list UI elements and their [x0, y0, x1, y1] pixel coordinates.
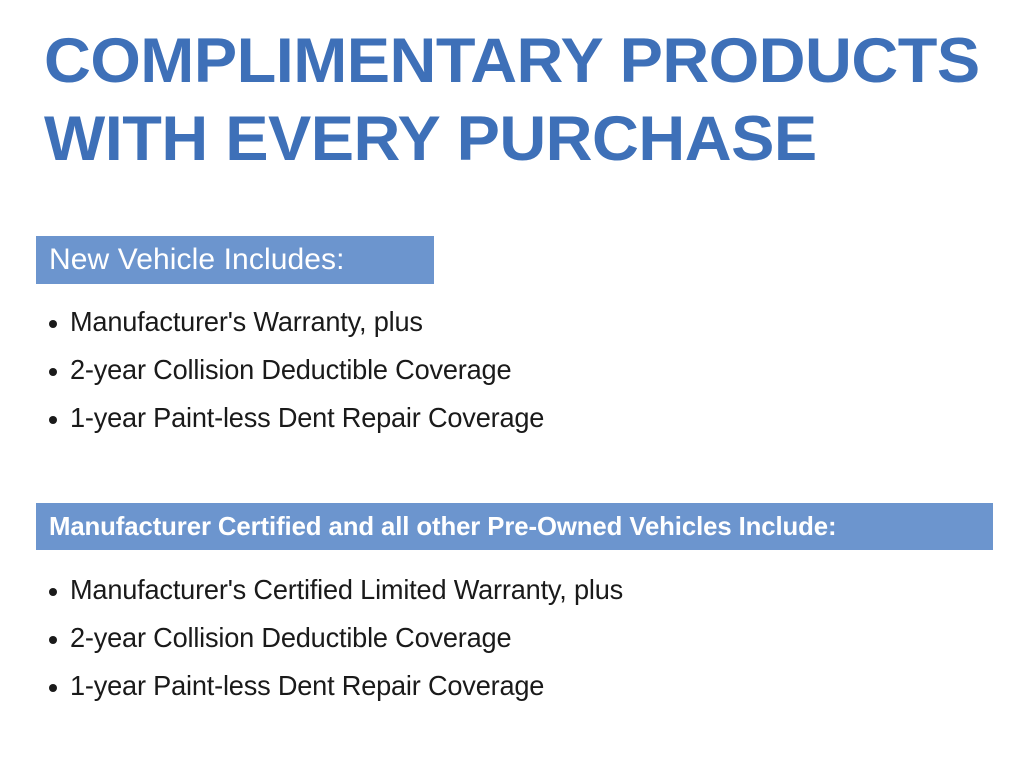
list-item: 2-year Collision Deductible Coverage: [46, 616, 640, 664]
list-item-label: Manufacturer's Warranty, plus: [70, 300, 423, 344]
section-heading-label-new-vehicle: New Vehicle Includes:: [49, 243, 345, 277]
list-item-label: 1-year Paint-less Dent Repair Coverage: [70, 396, 544, 440]
bullet-dot-icon: [49, 368, 57, 376]
page-title-line-1: COMPLIMENTARY PRODUCTS: [44, 22, 1023, 100]
slide-canvas: COMPLIMENTARY PRODUCTS WITH EVERY PURCHA…: [0, 0, 1024, 768]
bullet-list-new-vehicle: Manufacturer's Warranty, plus 2-year Col…: [46, 300, 559, 444]
page-title-line-2: WITH EVERY PURCHASE: [44, 100, 1023, 178]
bullet-dot-icon: [49, 684, 57, 692]
bullet-dot-icon: [49, 320, 57, 328]
list-item: Manufacturer's Warranty, plus: [46, 300, 559, 348]
section-heading-bar-pre-owned: Manufacturer Certified and all other Pre…: [36, 503, 993, 550]
list-item: 2-year Collision Deductible Coverage: [46, 348, 559, 396]
bullet-dot-icon: [49, 416, 57, 424]
section-heading-bar-new-vehicle: New Vehicle Includes:: [36, 236, 434, 284]
bullet-list-pre-owned: Manufacturer's Certified Limited Warrant…: [46, 568, 640, 712]
bullet-dot-icon: [49, 636, 57, 644]
page-title: COMPLIMENTARY PRODUCTS WITH EVERY PURCHA…: [44, 22, 994, 178]
list-item-label: 2-year Collision Deductible Coverage: [70, 348, 511, 392]
list-item: Manufacturer's Certified Limited Warrant…: [46, 568, 640, 616]
list-item-label: 1-year Paint-less Dent Repair Coverage: [70, 664, 544, 708]
bullet-dot-icon: [49, 588, 57, 596]
list-item: 1-year Paint-less Dent Repair Coverage: [46, 396, 559, 444]
list-item: 1-year Paint-less Dent Repair Coverage: [46, 664, 640, 712]
list-item-label: Manufacturer's Certified Limited Warrant…: [70, 568, 623, 612]
list-item-label: 2-year Collision Deductible Coverage: [70, 616, 511, 660]
section-heading-label-pre-owned: Manufacturer Certified and all other Pre…: [49, 511, 836, 542]
